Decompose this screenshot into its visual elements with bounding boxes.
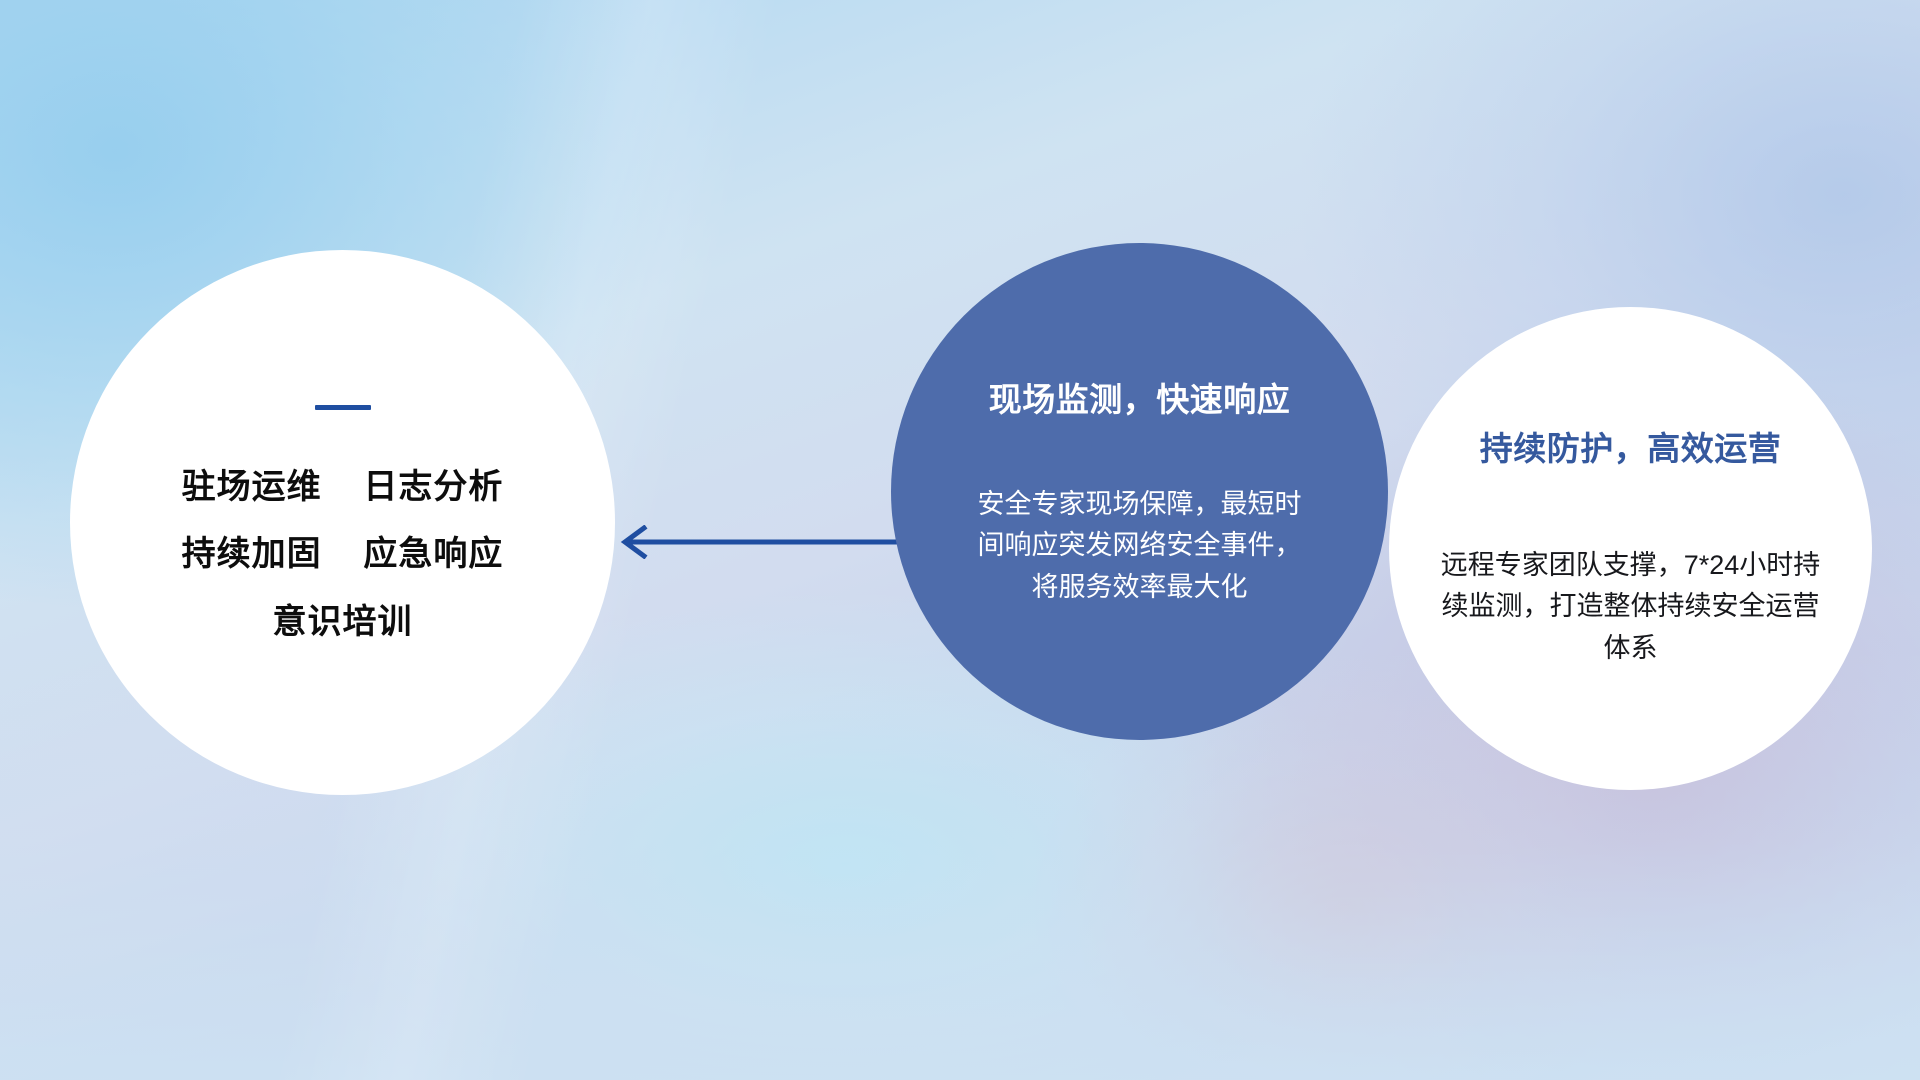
onsite-monitoring-body: 安全专家现场保障，最短时间响应突发网络安全事件，将服务效率最大化 [975,484,1305,610]
onsite-monitoring-content: 现场监测，快速响应 安全专家现场保障，最短时间响应突发网络安全事件，将服务效率最… [891,243,1388,740]
capability-line-3: 意识培训 [273,605,413,640]
continuous-protection-title: 持续防护，高效运营 [1480,429,1782,469]
onsite-monitoring-title: 现场监测，快速响应 [989,380,1291,420]
capabilities-circle[interactable]: 驻场运维 日志分析 持续加固 应急响应 意识培训 [70,250,615,795]
slide-canvas: 现场监测，快速响应 安全专家现场保障，最短时间响应突发网络安全事件，将服务效率最… [0,0,1920,1080]
capabilities-content: 驻场运维 日志分析 持续加固 应急响应 意识培训 [70,250,615,795]
capability-line-2: 持续加固 应急响应 [182,537,504,572]
capability-line-1: 驻场运维 日志分析 [182,470,504,505]
accent-dash-icon [315,405,371,410]
continuous-protection-circle[interactable]: 持续防护，高效运营 远程专家团队支撑，7*24小时持续监测，打造整体持续安全运营… [1389,307,1872,790]
left-arrow-icon [610,525,910,559]
continuous-protection-content: 持续防护，高效运营 远程专家团队支撑，7*24小时持续监测，打造整体持续安全运营… [1389,307,1872,790]
onsite-monitoring-circle[interactable]: 现场监测，快速响应 安全专家现场保障，最短时间响应突发网络安全事件，将服务效率最… [891,243,1388,740]
continuous-protection-body: 远程专家团队支撑，7*24小时持续监测，打造整体持续安全运营体系 [1431,545,1831,671]
